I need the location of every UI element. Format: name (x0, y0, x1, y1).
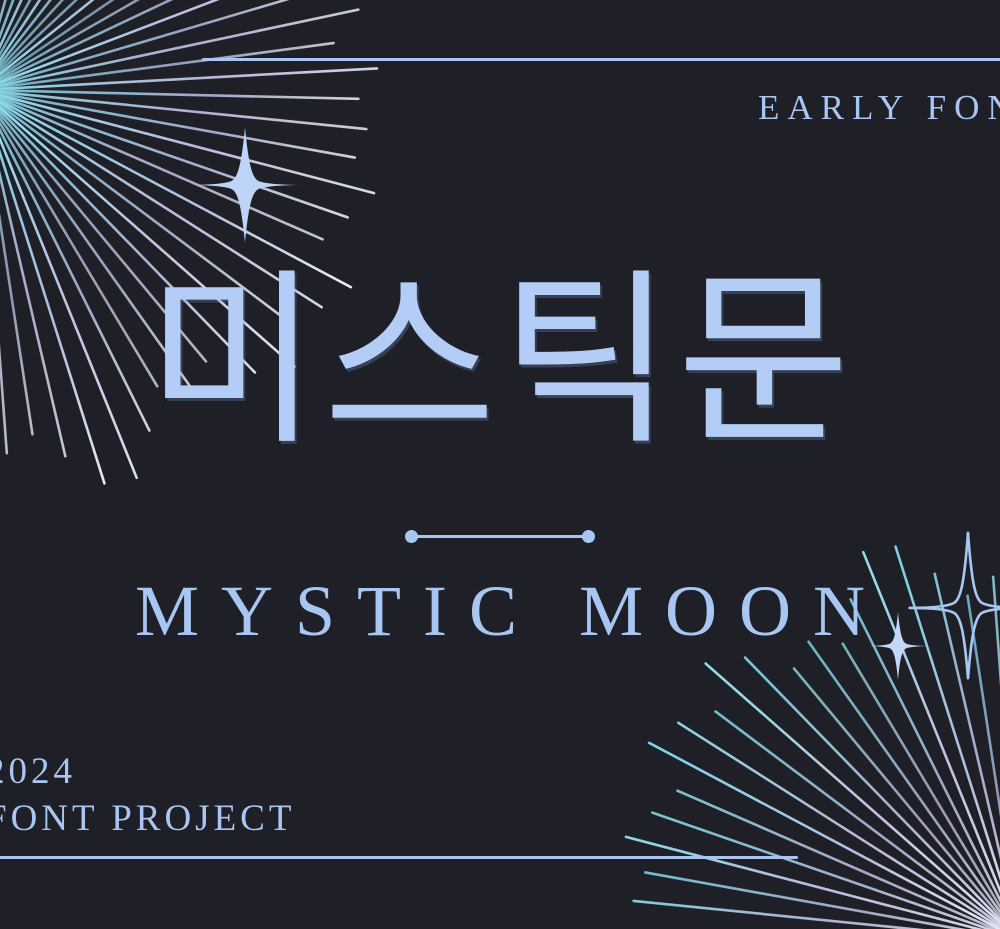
footer-project: FONT PROJECT (0, 795, 295, 842)
footer-year: 2024 (0, 748, 295, 795)
page-title-korean: 미스틱문 (0, 268, 1000, 456)
divider-dotted-line (405, 527, 595, 545)
rule-top (202, 58, 1000, 61)
footer-meta: 2024 FONT PROJECT (0, 748, 295, 843)
divider-bar (413, 535, 587, 538)
rule-bottom (0, 856, 798, 859)
header-label-early-font: EARLY FONT (758, 88, 1000, 128)
divider-dot-right (582, 530, 595, 543)
page-subtitle-latin: MYSTIC MOON (0, 570, 1000, 653)
poster-canvas: EARLY FONT 미스틱문 MYSTIC MOON 2024 FONT PR… (0, 0, 1000, 929)
four-point-star-icon (185, 125, 305, 245)
